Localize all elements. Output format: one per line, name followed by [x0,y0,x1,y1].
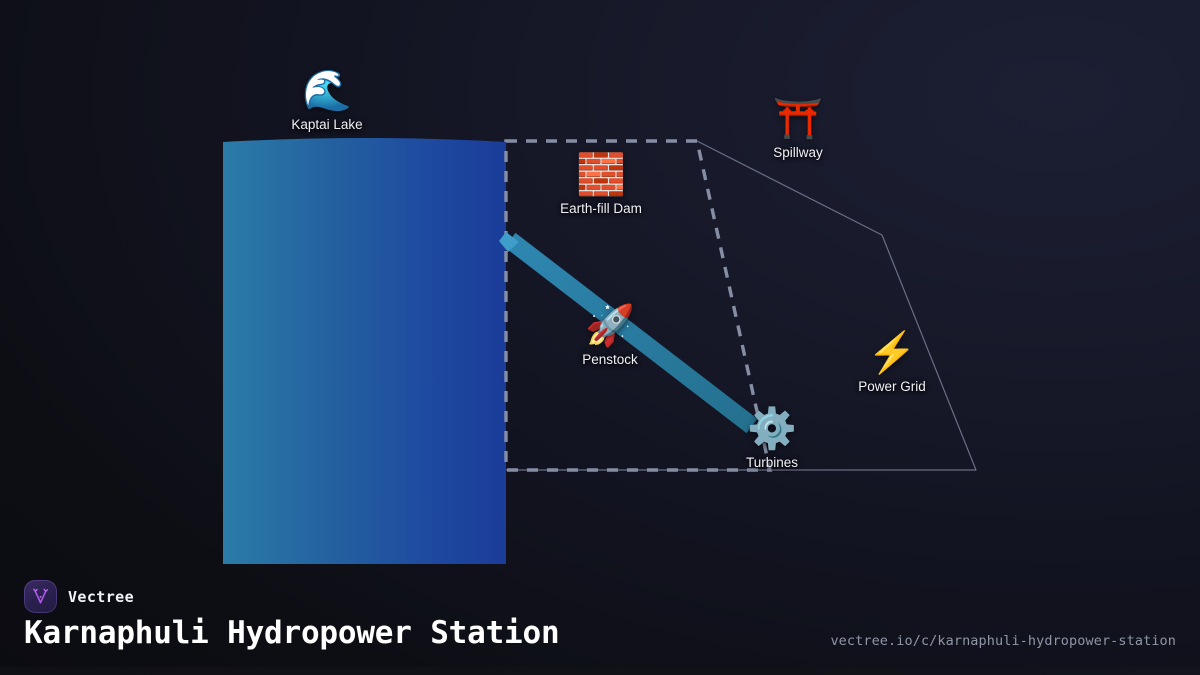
footer-divider [0,667,1200,675]
diagram-canvas-page: 🌊 Kaptai Lake 🧱 Earth-fill Dam ⛩️ Spillw… [0,0,1200,675]
page-title: Karnaphuli Hydropower Station [24,615,559,651]
brand-name: Vectree [68,588,134,606]
node-label: Spillway [773,145,823,161]
torii-gate-icon: ⛩️ [773,96,823,142]
vectree-mark-icon [30,586,51,607]
rocket-icon: 🚀 [585,303,635,349]
reservoir-water-body[interactable] [223,138,506,564]
node-turbines[interactable]: ⚙️ Turbines [692,406,852,471]
high-voltage-icon: ⚡ [867,330,917,376]
node-kaptai-lake[interactable]: 🌊 Kaptai Lake [247,68,407,133]
node-earth-fill-dam[interactable]: 🧱 Earth-fill Dam [521,152,681,217]
footer: Vectree Karnaphuli Hydropower Station ve… [0,565,1200,675]
brick-icon: 🧱 [576,152,626,198]
page-url: vectree.io/c/karnaphuli-hydropower-stati… [830,633,1176,649]
vectree-logo-icon [24,580,57,613]
node-label: Turbines [746,455,798,471]
node-power-grid[interactable]: ⚡ Power Grid [812,330,972,395]
water-wave-icon: 🌊 [302,68,352,114]
brand-row[interactable]: Vectree [24,580,134,613]
diagram-vector-layer [0,0,1200,560]
node-label: Kaptai Lake [291,117,362,133]
node-penstock[interactable]: 🚀 Penstock [530,303,690,368]
node-spillway[interactable]: ⛩️ Spillway [718,96,878,161]
node-label: Penstock [582,352,638,368]
node-label: Earth-fill Dam [560,201,642,217]
gear-icon: ⚙️ [747,406,797,452]
diagram-canvas[interactable]: 🌊 Kaptai Lake 🧱 Earth-fill Dam ⛩️ Spillw… [0,0,1200,560]
node-label: Power Grid [858,379,926,395]
